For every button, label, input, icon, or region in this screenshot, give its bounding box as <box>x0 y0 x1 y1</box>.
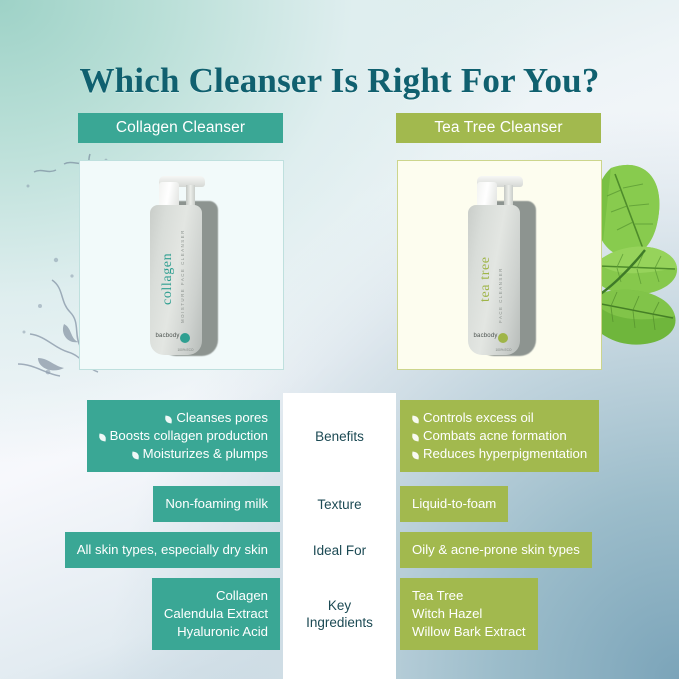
cell-line: Boosts collagen production <box>99 427 268 445</box>
product-image-collagen: collagen MOISTURE FACE CLEANSER bacbody … <box>126 171 238 359</box>
brand-mark: bacbody <box>474 333 498 339</box>
leaf-bullet-icon <box>98 434 106 442</box>
cell-line: Liquid-to-foam <box>412 495 496 513</box>
leaf-bullet-icon <box>412 434 420 442</box>
column-header-tea-tree: Tea Tree Cleanser <box>396 113 601 143</box>
eco-badge-text: 100% ECO <box>496 349 512 353</box>
bottle-label-sub: FACE CLEANSER <box>498 235 503 323</box>
row-label-line: Texture <box>283 496 396 513</box>
column-header-collagen: Collagen Cleanser <box>78 113 283 143</box>
cell-line: Combats acne formation <box>412 427 587 445</box>
eco-badge-icon <box>180 333 190 343</box>
leaf-bullet-icon <box>131 452 139 460</box>
eco-badge-icon <box>498 333 508 343</box>
cell-line: Collagen <box>164 587 268 605</box>
brand-mark: bacbody <box>156 333 180 339</box>
cell-line: Oily & acne-prone skin types <box>412 541 580 559</box>
cell-line: Hyaluronic Acid <box>164 623 268 641</box>
bottle-label-sub: MOISTURE FACE CLEANSER <box>180 235 185 323</box>
product-panel-collagen: collagen MOISTURE FACE CLEANSER bacbody … <box>79 160 284 370</box>
bottle-label-main: collagen <box>160 231 194 327</box>
page-title: Which Cleanser Is Right For You? <box>0 61 679 101</box>
comparison-cell-right: Tea TreeWitch HazelWillow Bark Extract <box>400 578 538 650</box>
row-label-line: Ingredients <box>283 614 396 631</box>
cell-line: Calendula Extract <box>164 605 268 623</box>
row-label-line: Ideal For <box>283 542 396 559</box>
leaf-bullet-icon <box>412 416 420 424</box>
comparison-cell-left: Non-foaming milk <box>153 486 280 522</box>
cell-line: Moisturizes & plumps <box>99 445 268 463</box>
cell-line: Cleanses pores <box>99 409 268 427</box>
leaf-bullet-icon <box>412 452 420 460</box>
comparison-cell-right: Oily & acne-prone skin types <box>400 532 592 568</box>
leaf-bullet-icon <box>165 416 173 424</box>
row-label-key-ingredients: KeyIngredients <box>283 597 396 631</box>
comparison-cell-left: CollagenCalendula ExtractHyaluronic Acid <box>152 578 280 650</box>
product-panel-tea-tree: tea tree FACE CLEANSER bacbody 100% ECO <box>397 160 602 370</box>
cell-line: Reduces hyperpigmentation <box>412 445 587 463</box>
row-label-ideal-for: Ideal For <box>283 542 396 559</box>
cell-line: Non-foaming milk <box>165 495 268 513</box>
bottle-label-main: tea tree <box>478 231 512 327</box>
cell-line: Willow Bark Extract <box>412 623 526 641</box>
comparison-cell-right: Liquid-to-foam <box>400 486 508 522</box>
infographic-poster: Which Cleanser Is Right For You? Collage… <box>0 0 679 679</box>
comparison-cell-right: Controls excess oilCombats acne formatio… <box>400 400 599 472</box>
bottle-body: collagen MOISTURE FACE CLEANSER bacbody … <box>150 205 202 355</box>
row-label-texture: Texture <box>283 496 396 513</box>
cell-line: Tea Tree <box>412 587 526 605</box>
cell-line: All skin types, especially dry skin <box>77 541 268 559</box>
comparison-cell-left: Cleanses poresBoosts collagen production… <box>87 400 280 472</box>
cell-line: Controls excess oil <box>412 409 587 427</box>
row-label-benefits: Benefits <box>283 428 396 445</box>
bottle-body: tea tree FACE CLEANSER bacbody 100% ECO <box>468 205 520 355</box>
cell-line: Witch Hazel <box>412 605 526 623</box>
eco-badge-text: 100% ECO <box>178 349 194 353</box>
product-image-tea-tree: tea tree FACE CLEANSER bacbody 100% ECO <box>444 171 556 359</box>
comparison-cell-left: All skin types, especially dry skin <box>65 532 280 568</box>
row-label-line: Benefits <box>283 428 396 445</box>
row-label-line: Key <box>283 597 396 614</box>
